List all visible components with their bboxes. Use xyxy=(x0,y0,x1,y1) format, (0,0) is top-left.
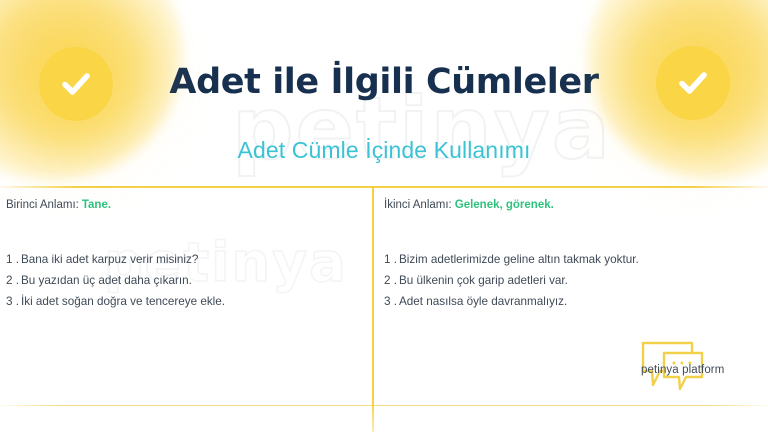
list-item-text: Bu yazıdan üç adet daha çıkarın. xyxy=(21,274,192,287)
list-item-text: Adet nasılsa öyle davranmalıyız. xyxy=(399,295,567,308)
meaning-heading-first: Birinci Anlamı:Tane. xyxy=(6,199,372,211)
column-first-meaning: Birinci Anlamı:Tane. 1 .Bana iki adet ka… xyxy=(0,186,372,432)
sentence-list-second: 1 .Bizim adetlerimizde geline altın takm… xyxy=(384,249,639,312)
list-item: 1 .Bizim adetlerimizde geline altın takm… xyxy=(384,249,639,270)
list-item-number: 3 . xyxy=(384,295,397,308)
list-item-number: 2 . xyxy=(384,274,397,287)
list-item: 2 .Bu ülkenin çok garip adetleri var. xyxy=(384,270,639,291)
list-item-text: Bana iki adet karpuz verir misiniz? xyxy=(21,253,198,266)
list-item: 3 .Adet nasılsa öyle davranmalıyız. xyxy=(384,291,639,312)
column-second-meaning: İkinci Anlamı:Gelenek, görenek. 1 .Bizim… xyxy=(372,186,768,432)
list-item-text: Bizim adetlerimizde geline altın takmak … xyxy=(399,253,639,266)
check-circle-icon-right xyxy=(656,46,730,120)
brand-name: petinya platform xyxy=(641,364,724,376)
content-columns: Birinci Anlamı:Tane. 1 .Bana iki adet ka… xyxy=(0,186,768,432)
header: Adet ile İlgili Cümleler Adet Cümle İçin… xyxy=(0,0,768,186)
brand-logo: petinya platform xyxy=(640,341,752,393)
list-item-number: 1 . xyxy=(384,253,397,266)
page-title: Adet ile İlgili Cümleler xyxy=(0,62,768,102)
list-item: 2 .Bu yazıdan üç adet daha çıkarın. xyxy=(6,270,225,291)
meaning-label: Birinci Anlamı: xyxy=(6,199,79,211)
meaning-heading-second: İkinci Anlamı:Gelenek, görenek. xyxy=(384,199,768,211)
meaning-label: İkinci Anlamı: xyxy=(384,199,452,211)
page-subtitle: Adet Cümle İçinde Kullanımı xyxy=(0,137,768,164)
meaning-value: Gelenek, görenek. xyxy=(455,199,554,211)
list-item: 1 .Bana iki adet karpuz verir misiniz? xyxy=(6,249,225,270)
check-circle-icon-left xyxy=(39,47,113,121)
sentence-list-first: 1 .Bana iki adet karpuz verir misiniz? 2… xyxy=(6,249,225,312)
list-item-number: 2 . xyxy=(6,274,19,287)
list-item-text: Bu ülkenin çok garip adetleri var. xyxy=(399,274,568,287)
list-item-text: İki adet soğan doğra ve tencereye ekle. xyxy=(21,295,225,308)
list-item: 3 .İki adet soğan doğra ve tencereye ekl… xyxy=(6,291,225,312)
slide-card: petinya petinya Adet ile İlgili Cümleler… xyxy=(0,0,768,432)
list-item-number: 3 . xyxy=(6,295,19,308)
meaning-value: Tane. xyxy=(82,199,111,211)
list-item-number: 1 . xyxy=(6,253,19,266)
